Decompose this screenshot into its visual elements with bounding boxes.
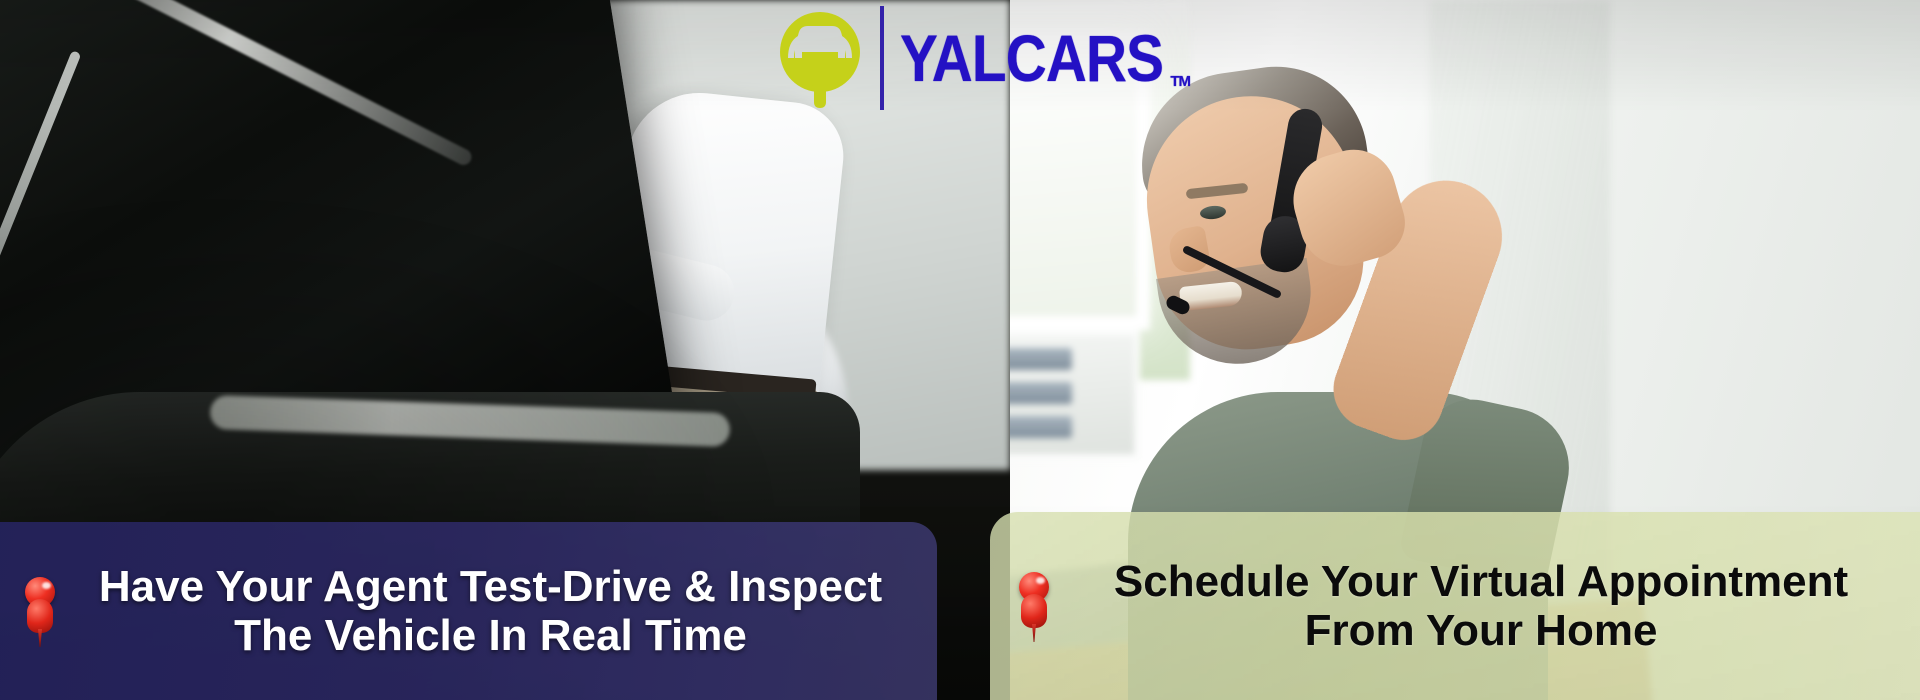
banner-left-text: Have Your Agent Test-Drive & Inspect The… bbox=[66, 562, 937, 661]
banner-right-text: Schedule Your Virtual Appointment From Y… bbox=[1060, 557, 1920, 656]
pushpin-icon bbox=[1012, 568, 1056, 644]
cabinet-drawer bbox=[1010, 348, 1072, 370]
banner-right[interactable]: Schedule Your Virtual Appointment From Y… bbox=[990, 512, 1920, 700]
banner-left-line2: The Vehicle In Real Time bbox=[66, 611, 915, 660]
banner-right-line2: From Your Home bbox=[1060, 606, 1902, 655]
pushpin-icon bbox=[18, 573, 62, 649]
banner-left[interactable]: Have Your Agent Test-Drive & Inspect The… bbox=[0, 522, 937, 700]
cabinet-drawer bbox=[1010, 382, 1072, 404]
brand-text: YALCARS bbox=[900, 21, 1163, 95]
banner-stage: YALCARS TM Have Your Agent Test-Drive & … bbox=[0, 0, 1920, 700]
banner-left-line1: Have Your Agent Test-Drive & Inspect bbox=[66, 562, 915, 611]
trademark-symbol: TM bbox=[1171, 74, 1191, 89]
brand-logo[interactable]: YALCARS TM bbox=[768, 4, 1206, 112]
cabinet-drawer bbox=[1010, 416, 1072, 438]
banner-right-line1: Schedule Your Virtual Appointment bbox=[1060, 557, 1902, 606]
vertical-divider bbox=[880, 6, 884, 110]
brand-wordmark: YALCARS TM bbox=[900, 25, 1163, 91]
car-key-pin-icon bbox=[768, 6, 872, 110]
